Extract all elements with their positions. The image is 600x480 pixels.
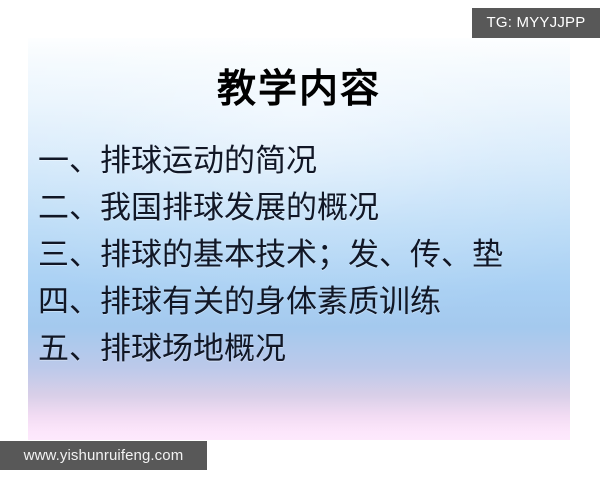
list-item: 五、排球场地概况 [38,326,570,373]
teaching-content-list: 一、排球运动的简况 二、我国排球发展的概况 三、排球的基本技术；发、传、垫 四、… [38,138,570,373]
list-item: 一、排球运动的简况 [38,138,570,185]
list-item: 三、排球的基本技术；发、传、垫 [38,232,570,279]
list-item: 二、我国排球发展的概况 [38,185,570,232]
list-item: 四、排球有关的身体素质训练 [38,279,570,326]
site-watermark: www.yishunruifeng.com [0,441,207,470]
page-root: 教学内容 一、排球运动的简况 二、我国排球发展的概况 三、排球的基本技术；发、传… [0,0,600,480]
tg-watermark-badge: TG: MYYJJPP [472,8,600,38]
page-title: 教学内容 [28,65,570,113]
presentation-slide: 教学内容 一、排球运动的简况 二、我国排球发展的概况 三、排球的基本技术；发、传… [28,38,570,440]
